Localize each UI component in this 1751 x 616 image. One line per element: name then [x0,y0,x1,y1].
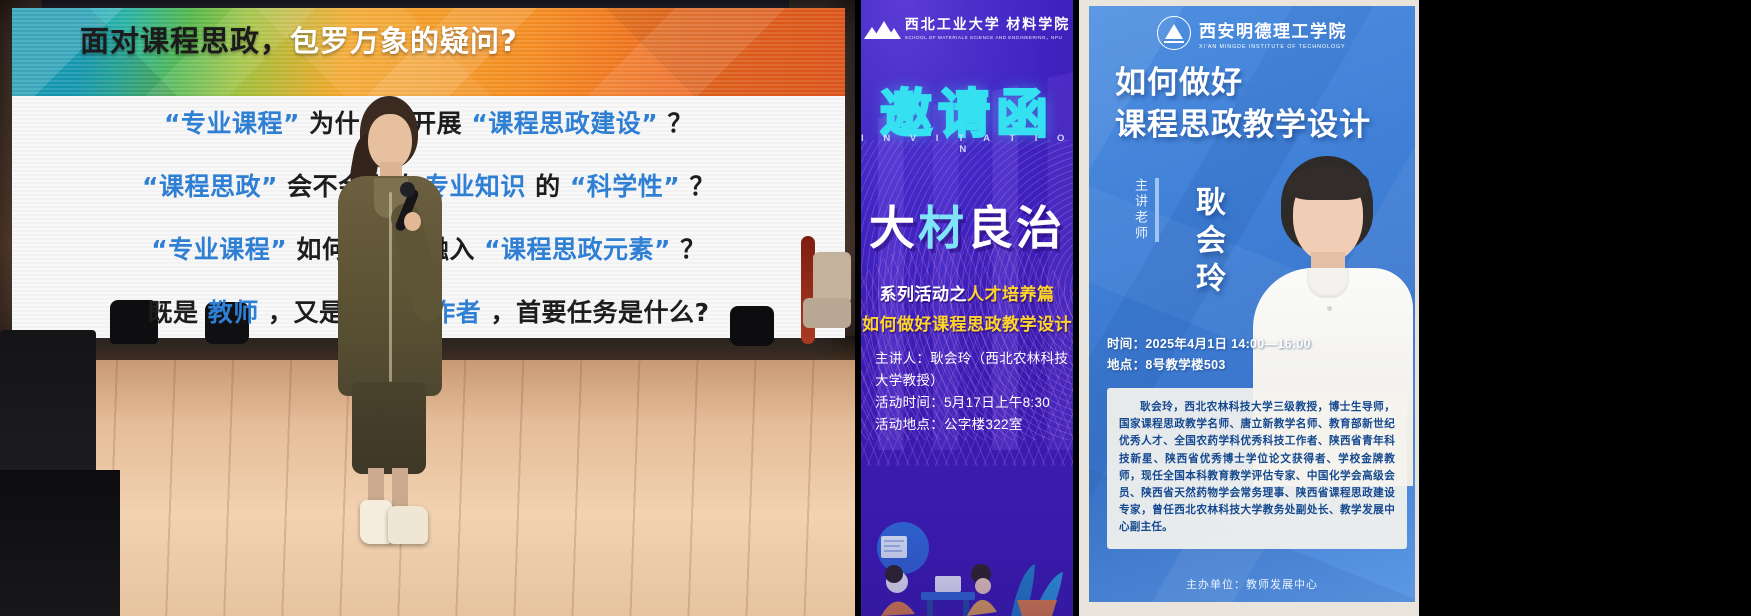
slide-title-part-b: 包罗万象的疑问? [290,24,518,58]
speaker-poster-logo-text: 西安明德理工学院 XI'AN MINGDE INSTITUTE OF TECHN… [1199,17,1347,50]
slide-title-part-a: 面对课程思政， [80,24,290,58]
invitation-topic-line: 如何做好课程思政教学设计 [861,310,1073,335]
speaker-university-name: 西安明德理工学院 [1199,17,1347,42]
slide-line-4-part-2: 教师 [208,298,259,327]
invitation-series-line: 系列活动之人才培养篇 [861,280,1073,305]
speaker-university-name-en: XI'AN MINGDE INSTITUTE OF TECHNOLOGY [1199,44,1347,50]
foreground-equipment [0,470,120,616]
slide-line-1-part-3: “课程思政建设” [471,109,658,138]
invitation-info-block: 主讲人：耿会玲（西北农林科技大学教授） 活动时间：5月17日上午8:30 活动地… [875,348,1073,436]
event-meta: 时间：2025年4月1日 14:00—16:00 地点：8号教学楼503 [1107,334,1311,376]
image-collage: 面对课程思政，包罗万象的疑问? “专业课程” 为什么要开展 “课程思政建设” ？… [0,0,1751,616]
invitation-subtitle: I N V I T A T I O N [861,133,1073,155]
poster-bottom-margin [1079,602,1419,616]
slogan-char-3: 良 [967,201,1016,255]
auditorium-photo-panel: 面对课程思政，包罗万象的疑问? “专业课程” 为什么要开展 “课程思政建设” ？… [0,0,855,616]
slide-line-4-part-1: 既是 [148,298,199,327]
invitation-university-name-en: SCHOOL OF MATERIALS SCIENCE AND ENGINEER… [905,35,1071,41]
invitation-logo-text: 西北工业大学 材料学院 SCHOOL OF MATERIALS SCIENCE … [905,14,1071,41]
slide-line-2-part-5: “科学性” [570,172,680,201]
speaker-name: 耿会玲 [1185,186,1229,300]
event-time: 时间：2025年4月1日 14:00—16:00 [1107,334,1311,355]
invitation-place-line: 活动地点：公字楼322室 [875,414,1073,436]
slide-line-2-part-6: ？ [689,172,715,201]
slide-line-2-part-1: “课程思政” [142,172,278,201]
invitation-slogan: 大材良治 [861,192,1073,258]
speaker-bio-text: 耿会玲，西北农林科技大学三级教授，博士生导师，国家课程思政教学名师、唐立新教学名… [1119,399,1395,537]
illustration-backdrop [861,496,1073,616]
slide-line-1-part-1: “专业课程” [164,109,300,138]
people-working-illustration [861,496,1073,616]
speaker-poster-panel: 西安明德理工学院 XI'AN MINGDE INSTITUTE OF TECHN… [1079,0,1419,616]
organizer-line: 主办单位：教师发展中心 [1089,576,1415,592]
slogan-char-4: 治 [1016,201,1065,255]
presenter-skirt [352,382,426,474]
series-highlight: 人才培养篇 [967,285,1055,304]
slide-line-2-part-4: 的 [535,172,561,201]
speaker-poster-title-line1: 如何做好 [1115,62,1371,104]
slide-line-3-part-1: “专业课程” [151,235,287,264]
invitation-time-line: 活动时间：5月17日上午8:30 [875,392,1073,414]
speaker-poster-title-line2: 课程思政教学设计 [1115,104,1371,146]
speaker-poster-header: 西安明德理工学院 XI'AN MINGDE INSTITUTE OF TECHN… [1089,16,1415,50]
speaker-role-label: 主讲老师 [1131,178,1159,242]
presenter-boot-right [388,506,428,544]
slogan-char-1: 大 [869,201,918,255]
university-seal-icon [1157,16,1191,50]
presenter-figure [330,96,450,536]
slide-line-3-part-4: ？ [680,235,706,264]
presenter-hand [404,212,421,231]
invitation-speaker-line: 主讲人：耿会玲（西北农林科技大学教授） [875,348,1073,392]
invitation-header: 西北工业大学 材料学院 SCHOOL OF MATERIALS SCIENCE … [861,14,1073,41]
series-prefix: 系列活动之 [880,285,968,304]
microphone-head-icon [400,182,415,197]
speaker-bio-box: 耿会玲，西北农林科技大学三级教授，博士生导师，国家课程思政教学名师、唐立新教学名… [1107,388,1407,549]
mountain-logo-icon [864,17,898,39]
slide-line-3-part-3: “课程思政元素” [484,235,671,264]
slide-line-4-part-5: ，首要任务是什么? [490,298,709,327]
event-place: 地点：8号教学楼503 [1107,355,1311,376]
speaker-poster-title: 如何做好 课程思政教学设计 [1115,62,1371,146]
portrait-fringe [1287,166,1369,200]
speaker-poster-frame: 西安明德理工学院 XI'AN MINGDE INSTITUTE OF TECHN… [1089,6,1415,616]
slide-title: 面对课程思政，包罗万象的疑问? [80,18,518,60]
portrait-collar [1307,268,1349,298]
slide-line-1-part-4: ？ [667,109,693,138]
invitation-university-name: 西北工业大学 材料学院 [905,14,1071,34]
invitation-poster-panel: 西北工业大学 材料学院 SCHOOL OF MATERIALS SCIENCE … [861,0,1073,616]
portrait-button [1327,306,1332,311]
slogan-char-2: 材 [918,201,967,255]
